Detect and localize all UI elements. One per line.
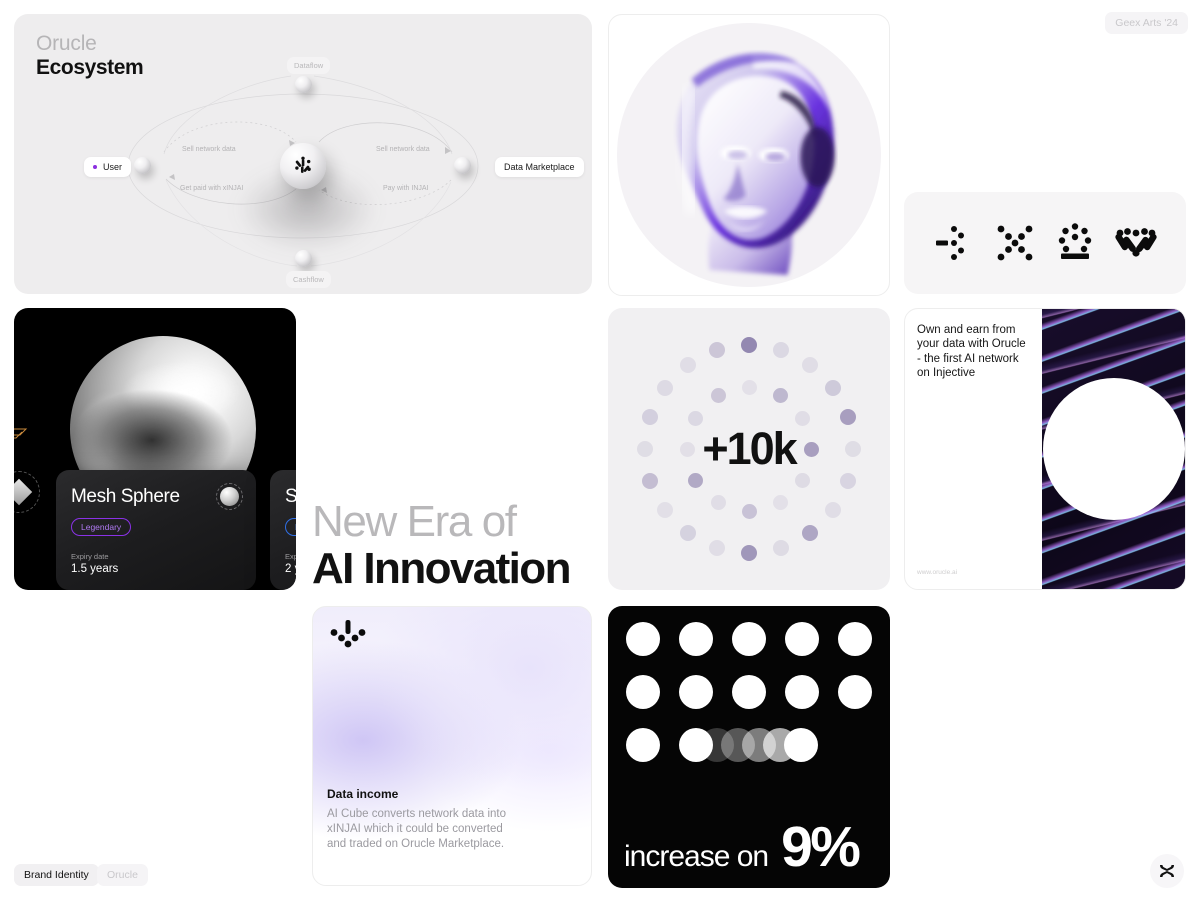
- ring-dot: [773, 495, 788, 510]
- ring-dot: [642, 473, 658, 489]
- own-earn-panel: Own and earn from your data with Orucle …: [904, 308, 1186, 590]
- white-circle-cutout: [1043, 378, 1185, 520]
- ring-dot: [741, 337, 757, 353]
- logo-marks-panel: [904, 192, 1186, 294]
- ring-dot: [711, 388, 726, 403]
- nft-card-mesh-sphere[interactable]: Mesh Sphere Legendary Expiry date 1.5 ye…: [56, 470, 256, 590]
- ecosystem-pill-user-label: User: [103, 162, 122, 172]
- ring-dot: [711, 495, 726, 510]
- ecosystem-node-marketplace: [454, 157, 471, 174]
- nft-thumbnail: [216, 483, 243, 510]
- ring-dot: [825, 380, 841, 396]
- ring-dot: [802, 525, 818, 541]
- ring-dot: [773, 540, 789, 556]
- face-disc: [617, 23, 881, 287]
- data-income-body: AI Cube converts network data into xINJA…: [327, 807, 512, 853]
- nft-expiry-value: 2 ye: [285, 563, 296, 575]
- flow-label-pay: Pay with INJAI: [383, 185, 429, 192]
- ring-dot: [657, 380, 673, 396]
- ring-dot: [709, 342, 725, 358]
- ring-dot: [773, 342, 789, 358]
- flow-label-sell-left: Sell network data: [182, 146, 236, 153]
- own-earn-copy: Own and earn from your data with Orucle …: [917, 323, 1032, 381]
- circle-grid-graphic: [626, 622, 874, 781]
- ecosystem-pill-cashflow[interactable]: Cashflow: [286, 271, 331, 288]
- ecosystem-node-cashflow: [295, 250, 312, 267]
- nft-expiry-label: Expiry date: [71, 552, 241, 561]
- diamond-outline-icon: [14, 426, 30, 450]
- heart-dots-logo-icon: [1113, 220, 1159, 266]
- ring-dot: [657, 502, 673, 518]
- face-render-panel: [608, 14, 890, 296]
- headline-line-2: AI Innovation: [312, 544, 602, 593]
- ecosystem-pill-marketplace[interactable]: Data Marketplace: [495, 157, 584, 177]
- cross-dots-logo-icon: [992, 220, 1038, 266]
- ecosystem-panel: Orucle Ecosystem: [14, 14, 592, 294]
- ecosystem-pill-cashflow-label: Cashflow: [293, 275, 324, 284]
- orucle-sphere-logo-icon: [290, 153, 316, 179]
- ecosystem-node-user: [134, 157, 151, 174]
- ecosystem-pill-marketplace-label: Data Marketplace: [504, 162, 575, 172]
- ecosystem-pill-dataflow-label: Dataflow: [294, 61, 323, 70]
- circle-row: [626, 622, 874, 675]
- ring-dot: [680, 357, 696, 373]
- data-income-title: Data income: [327, 787, 398, 801]
- credit-badge: Geex Arts '24: [1105, 12, 1188, 34]
- ring-dot: [709, 540, 725, 556]
- nft-rarity-badge: Legendary: [71, 518, 131, 536]
- ecosystem-pill-dataflow[interactable]: Dataflow: [287, 57, 330, 74]
- footer-tag-orucle[interactable]: Orucle: [97, 864, 148, 886]
- corner-logo[interactable]: [1150, 854, 1184, 888]
- orucle-dots-logo-icon: [327, 615, 369, 657]
- nft-card-secondary[interactable]: Sp Rar Expiry 2 ye: [270, 470, 296, 590]
- nft-showcase-panel: Mesh Sphere Legendary Expiry date 1.5 ye…: [14, 308, 296, 590]
- face-sculpture-illustration: [632, 35, 867, 285]
- ecosystem-node-dataflow: [295, 76, 312, 93]
- nft-expiry-label: Expiry: [285, 552, 296, 561]
- page-headline: New Era of AI Innovation: [312, 500, 602, 593]
- ring-dot: [742, 380, 757, 395]
- ring-dot: [840, 473, 856, 489]
- ecosystem-hub: [280, 143, 326, 189]
- ring-dot: [742, 504, 757, 519]
- brand-identity-showcase: Geex Arts '24 Orucle Ecosystem: [0, 0, 1200, 900]
- circle-row-motion: [626, 728, 874, 781]
- nft-expiry-value: 1.5 years: [71, 563, 241, 575]
- nft-card-partial-left[interactable]: [14, 471, 40, 513]
- ecosystem-pill-user[interactable]: User: [84, 157, 131, 177]
- data-income-panel: Data income AI Cube converts network dat…: [312, 606, 592, 886]
- nft-card-title: Sp: [285, 486, 296, 508]
- circle-dots-logo-icon: [1052, 220, 1098, 266]
- headline-line-1: New Era of: [312, 500, 602, 544]
- ring-dot: [741, 545, 757, 561]
- members-stat-panel: +10k: [608, 308, 890, 590]
- circle-row: [626, 675, 874, 728]
- status-dot-icon: [93, 165, 97, 169]
- footer-tag-brand-identity[interactable]: Brand Identity: [14, 864, 99, 886]
- arrow-dots-logo-icon: [931, 220, 977, 266]
- members-stat-value: +10k: [608, 423, 890, 475]
- own-earn-url[interactable]: www.orucle.ai: [917, 569, 957, 576]
- increase-footer: increase on 9%: [624, 822, 876, 874]
- increase-value: 9%: [781, 822, 858, 873]
- ring-dot: [825, 502, 841, 518]
- increase-label: increase on: [624, 840, 768, 874]
- own-earn-text-block: Own and earn from your data with Orucle …: [905, 309, 1044, 589]
- ring-dot: [802, 357, 818, 373]
- increase-stat-panel: increase on 9%: [608, 606, 890, 888]
- nft-rarity-badge: Rar: [285, 518, 296, 536]
- ring-dot: [680, 525, 696, 541]
- orucle-x-logo-icon: [1157, 861, 1177, 881]
- flow-label-getpaid: Get paid with xINJAI: [180, 185, 243, 192]
- flow-label-sell-right: Sell network data: [376, 146, 430, 153]
- neon-wave-artwork: [1042, 309, 1185, 589]
- ring-dot: [773, 388, 788, 403]
